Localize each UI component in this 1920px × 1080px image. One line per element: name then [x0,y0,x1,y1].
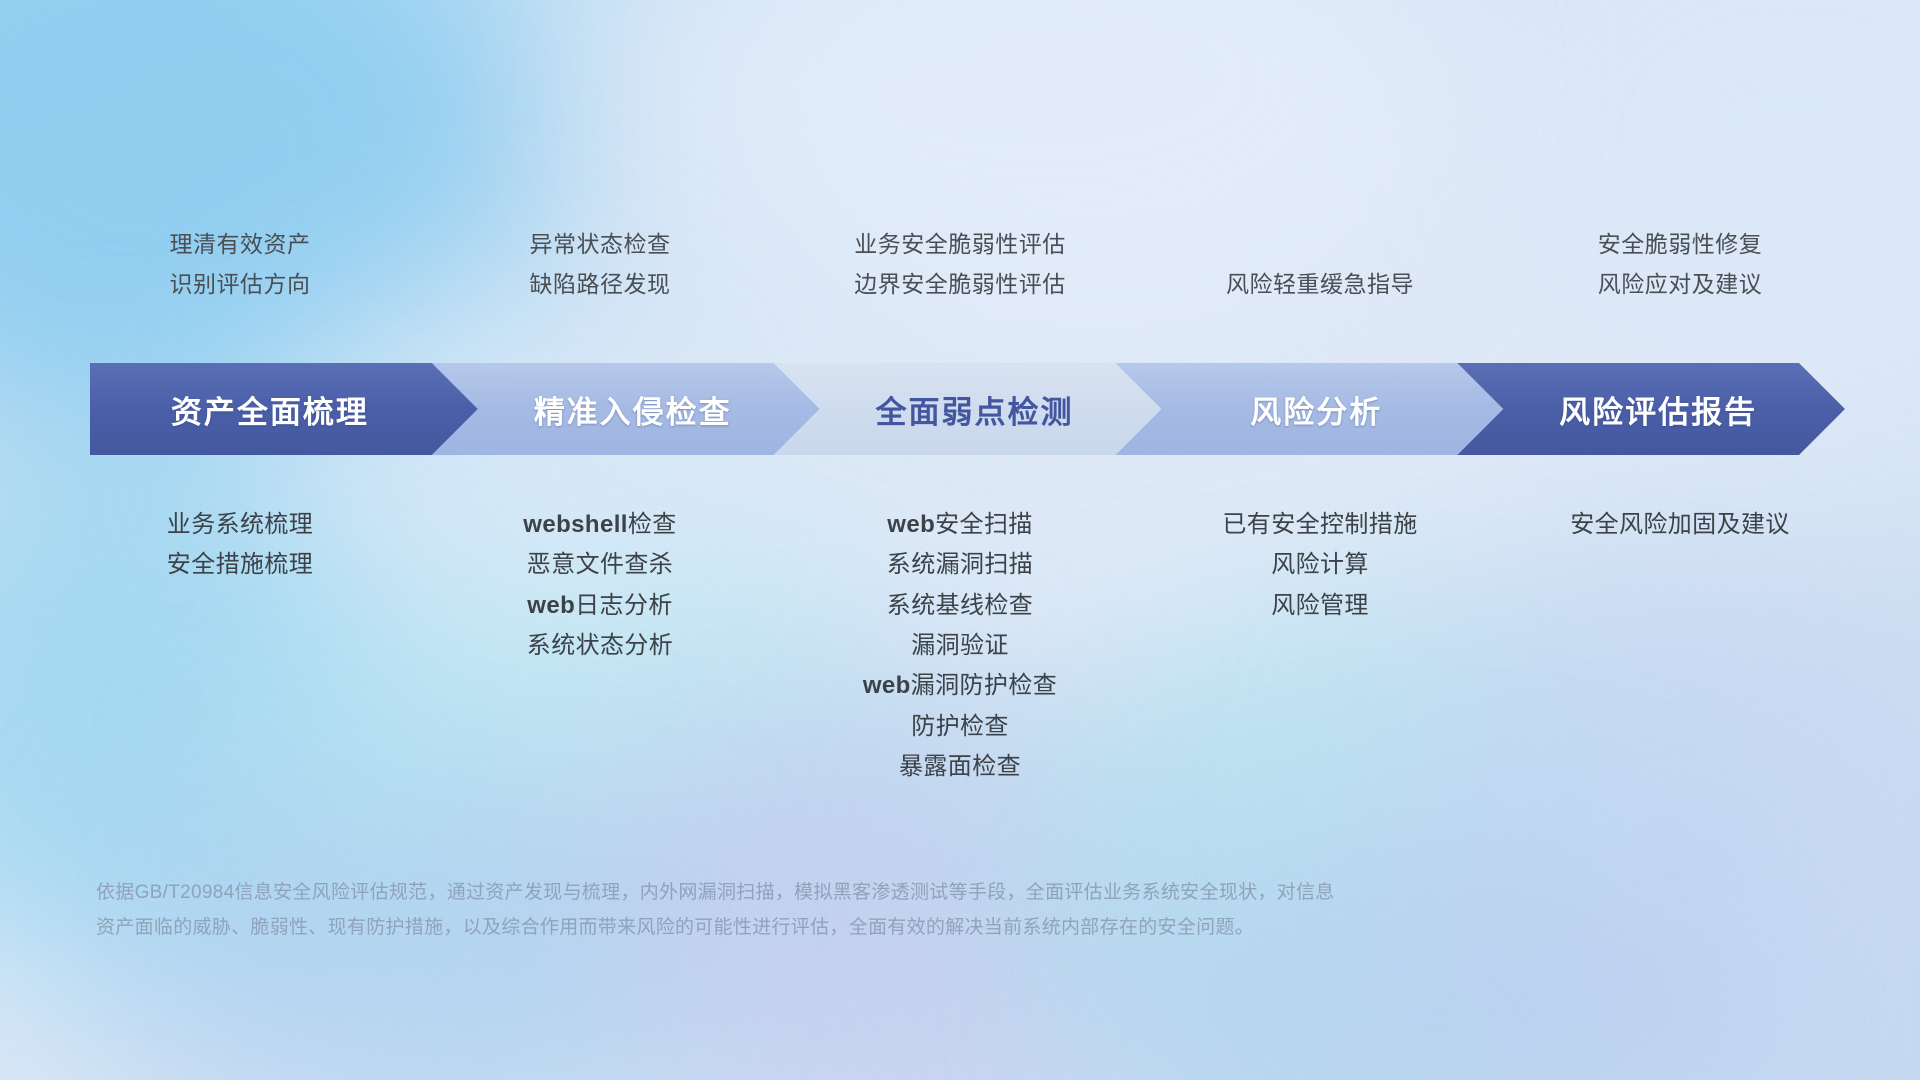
note-item: 暴露面检查 [899,747,1021,787]
note-item: 风险计算 [1271,545,1369,585]
note-item: web漏洞防护检查 [863,666,1057,706]
note-item: 风险轻重缓急指导 [1226,265,1414,305]
stage-arrow-label: 风险评估报告 [1559,387,1757,432]
notes-column-1: 理清有效资产识别评估方向 [60,225,420,304]
notes-column-4: 风险轻重缓急指导 [1140,225,1500,304]
notes-column-3: 业务安全脆弱性评估边界安全脆弱性评估 [780,225,1140,304]
note-item: 已有安全控制措施 [1222,505,1417,545]
notes-column-2: 异常状态检查缺陷路径发现 [420,225,780,304]
note-item: 缺陷路径发现 [530,265,671,305]
note-item: 边界安全脆弱性评估 [854,265,1066,305]
stage-arrow-band: 资产全面梳理精准入侵检查全面弱点检测风险分析风险评估报告 [90,363,1845,455]
note-item: 业务安全脆弱性评估 [854,225,1066,265]
stage-arrow-4[interactable]: 风险分析 [1115,363,1503,455]
stage-arrow-5[interactable]: 风险评估报告 [1457,363,1845,455]
note-item: 防护检查 [911,707,1009,747]
stage-arrow-label: 全面弱点检测 [875,387,1073,432]
process-diagram: 理清有效资产识别评估方向异常状态检查缺陷路径发现业务安全脆弱性评估边界安全脆弱性… [0,0,1920,1080]
notes-column-4: 已有安全控制措施风险计算风险管理 [1140,505,1500,787]
note-item: 系统基线检查 [887,586,1033,626]
note-item: 系统状态分析 [527,626,673,666]
stage-arrow-2[interactable]: 精准入侵检查 [432,363,820,455]
note-item: 安全措施梳理 [167,545,313,585]
note-item: webshell检查 [523,505,676,545]
notes-column-2: webshell检查恶意文件查杀web日志分析系统状态分析 [420,505,780,787]
footer-line-1: 依据GB/T20984信息安全风险评估规范，通过资产发现与梳理，内外网漏洞扫描，… [96,875,1616,910]
stage-arrow-3[interactable]: 全面弱点检测 [774,363,1162,455]
note-item: 理清有效资产 [170,225,311,265]
note-item: 异常状态检查 [530,225,671,265]
note-item: 识别评估方向 [170,265,311,305]
bottom-notes-row: 业务系统梳理安全措施梳理webshell检查恶意文件查杀web日志分析系统状态分… [60,505,1860,787]
footer-description: 依据GB/T20984信息安全风险评估规范，通过资产发现与梳理，内外网漏洞扫描，… [96,875,1616,945]
note-item: 风险应对及建议 [1598,265,1763,305]
stage-arrow-1[interactable]: 资产全面梳理 [90,363,478,455]
stage-arrow-label: 资产全面梳理 [171,387,369,432]
note-item: 风险管理 [1271,586,1369,626]
top-notes-row: 理清有效资产识别评估方向异常状态检查缺陷路径发现业务安全脆弱性评估边界安全脆弱性… [60,225,1860,304]
note-item: 安全风险加固及建议 [1570,505,1790,545]
note-item: 安全脆弱性修复 [1598,225,1763,265]
notes-column-5: 安全风险加固及建议 [1500,505,1860,787]
stage-arrow-label: 风险分析 [1250,387,1382,432]
note-item: 恶意文件查杀 [527,545,673,585]
footer-line-2: 资产面临的威胁、脆弱性、现有防护措施，以及综合作用而带来风险的可能性进行评估，全… [96,910,1616,945]
notes-column-3: web安全扫描系统漏洞扫描系统基线检查漏洞验证web漏洞防护检查防护检查暴露面检… [780,505,1140,787]
note-item: web日志分析 [527,586,673,626]
note-item: 业务系统梳理 [167,505,313,545]
note-item: 系统漏洞扫描 [887,545,1033,585]
stage-arrow-label: 精准入侵检查 [534,387,732,432]
note-item: web安全扫描 [887,505,1033,545]
notes-column-1: 业务系统梳理安全措施梳理 [60,505,420,787]
notes-column-5: 安全脆弱性修复风险应对及建议 [1500,225,1860,304]
note-item: 漏洞验证 [911,626,1009,666]
